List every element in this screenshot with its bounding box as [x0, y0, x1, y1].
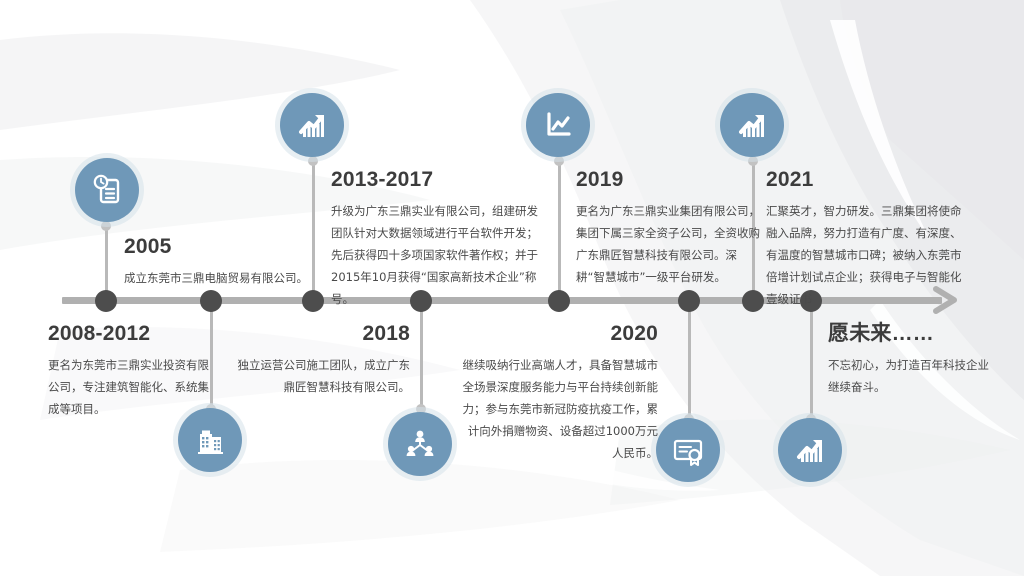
milestone-year: 2020: [458, 322, 658, 345]
axis-node-dot: [548, 290, 570, 312]
milestone-entry-2020: 2020 继续吸纳行业高端人才，具备智慧城市全场景深度服务能力与平台持续创新能力…: [458, 322, 658, 464]
stem-cap-2013: [308, 156, 318, 166]
milestone-body: 更名为东莞市三鼎实业投资有限公司，专注建筑智能化、系统集成等项目。: [48, 354, 216, 420]
milestone-body: 汇聚英才，智力研发。三鼎集团将使命融入品牌，努力打造有广度、有深度、有温度的智慧…: [766, 200, 962, 310]
milestone-icon-line-chart-icon[interactable]: [526, 93, 590, 157]
milestone-icon-document-clock-icon[interactable]: [75, 158, 139, 222]
milestone-icon-certificate-award-icon[interactable]: [656, 418, 720, 482]
stem-cap-2019: [554, 156, 564, 166]
growth-arrow-chart-icon: [294, 107, 330, 143]
stem-2005: [105, 225, 108, 300]
axis-node-dot: [302, 290, 324, 312]
stem-2020: [688, 300, 691, 420]
milestone-icon-team-org-icon[interactable]: [388, 412, 452, 476]
milestone-body: 升级为广东三鼎实业有限公司，组建研发团队针对大数据领域进行平台软件开发；先后获得…: [331, 200, 539, 310]
milestone-year: 愿未来……: [828, 322, 996, 345]
growth-arrow-chart-icon: [734, 107, 770, 143]
milestone-body: 继续吸纳行业高端人才，具备智慧城市全场景深度服务能力与平台持续创新能力；参与东莞…: [458, 354, 658, 464]
milestone-year: 2013-2017: [331, 168, 539, 191]
certificate-award-icon: [669, 431, 707, 469]
milestone-icon-growth-arrow-chart-icon[interactable]: [778, 418, 842, 482]
milestone-year: 2008-2012: [48, 322, 216, 345]
milestone-entry-2021: 2021 汇聚英才，智力研发。三鼎集团将使命融入品牌，努力打造有广度、有深度、有…: [766, 168, 962, 310]
stem-2019: [558, 160, 561, 300]
milestone-year: 2019: [576, 168, 762, 191]
axis-node-dot: [678, 290, 700, 312]
milestone-icon-growth-arrow-chart-icon[interactable]: [720, 93, 784, 157]
team-org-icon: [402, 426, 438, 462]
document-clock-icon: [89, 172, 125, 208]
milestone-entry-future: 愿未来…… 不忘初心，为打造百年科技企业继续奋斗。: [828, 322, 996, 398]
axis-node-dot: [200, 290, 222, 312]
milestone-year: 2005: [124, 235, 324, 258]
stem-2018: [420, 300, 423, 410]
milestone-body: 成立东莞市三鼎电脑贸易有限公司。: [124, 267, 324, 289]
milestone-body: 更名为广东三鼎实业集团有限公司，集团下属三家全资子公司，全资收购广东鼎匠智慧科技…: [576, 200, 762, 288]
milestone-year: 2018: [232, 322, 410, 345]
stem-cap-2021: [748, 156, 758, 166]
axis-node-dot: [95, 290, 117, 312]
growth-arrow-chart-icon: [792, 432, 828, 468]
milestone-icon-growth-arrow-chart-icon[interactable]: [280, 93, 344, 157]
timeline-infographic: 2005 成立东莞市三鼎电脑贸易有限公司。 2008-2012 更名为东莞市三鼎…: [0, 0, 1024, 576]
milestone-entry-2018: 2018 独立运营公司施工团队，成立广东鼎匠智慧科技有限公司。: [232, 322, 410, 398]
milestone-body: 独立运营公司施工团队，成立广东鼎匠智慧科技有限公司。: [232, 354, 410, 398]
axis-node-dot: [742, 290, 764, 312]
office-building-icon: [192, 422, 228, 458]
milestone-entry-2005: 2005 成立东莞市三鼎电脑贸易有限公司。: [124, 235, 324, 289]
milestone-entry-2013: 2013-2017 升级为广东三鼎实业有限公司，组建研发团队针对大数据领域进行平…: [331, 168, 539, 310]
stem-cap-2005: [101, 221, 111, 231]
milestone-entry-2008: 2008-2012 更名为东莞市三鼎实业投资有限公司，专注建筑智能化、系统集成等…: [48, 322, 216, 420]
line-chart-icon: [540, 107, 576, 143]
milestone-year: 2021: [766, 168, 962, 191]
milestone-entry-2019: 2019 更名为广东三鼎实业集团有限公司，集团下属三家全资子公司，全资收购广东鼎…: [576, 168, 762, 288]
stem-future: [810, 300, 813, 420]
milestone-body: 不忘初心，为打造百年科技企业继续奋斗。: [828, 354, 996, 398]
